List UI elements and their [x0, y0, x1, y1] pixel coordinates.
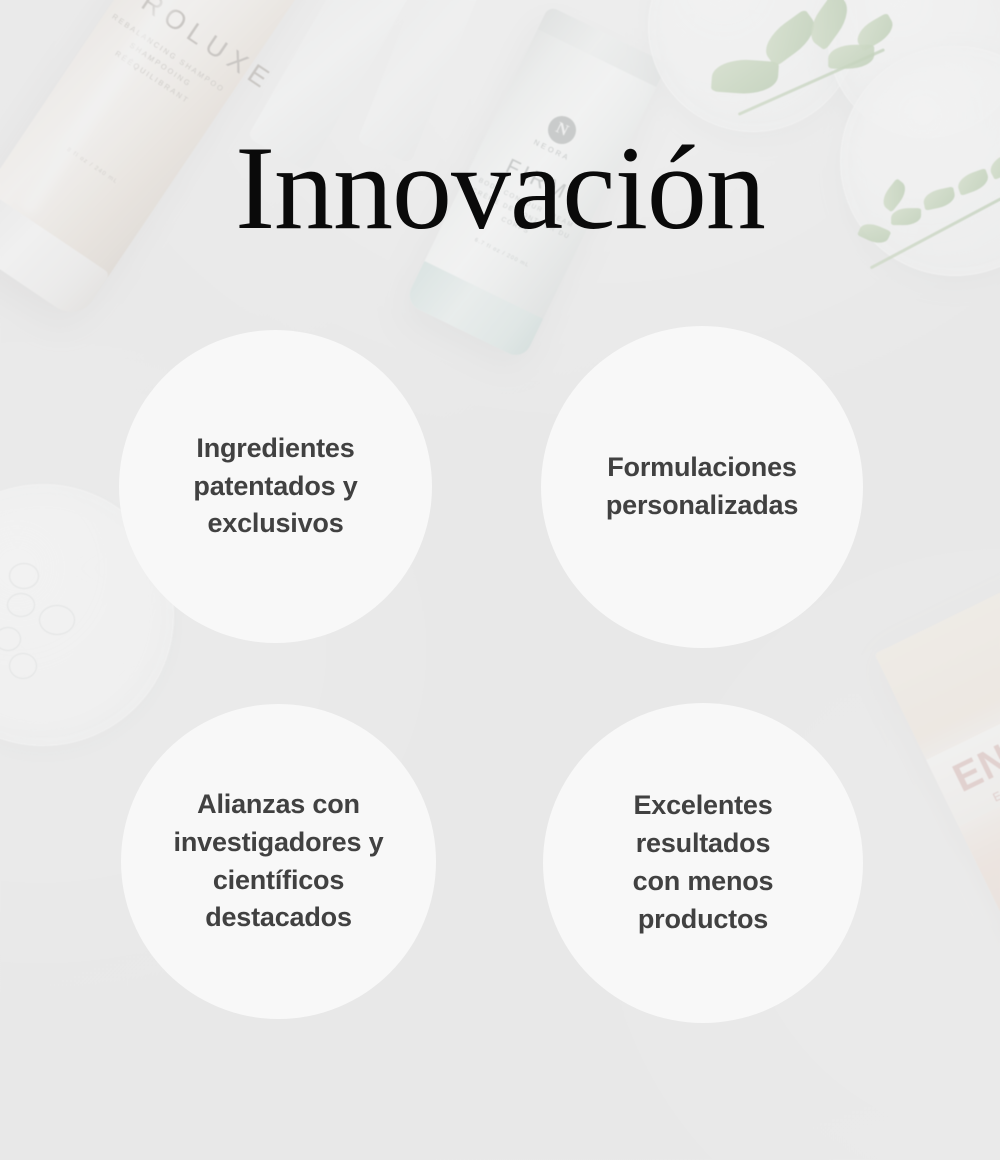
- feature-label: Excelentes resultados con menos producto…: [569, 787, 837, 938]
- feature-circles: Ingredientes patentados y exclusivos For…: [0, 0, 1000, 1160]
- feature-circle-alianzas[interactable]: Alianzas con investigadores y científico…: [121, 704, 436, 1019]
- feature-circle-formulaciones[interactable]: Formulaciones personalizadas: [541, 326, 863, 648]
- poster-content: Innovación Ingredientes patentados y exc…: [0, 0, 1000, 1160]
- feature-circle-ingredientes[interactable]: Ingredientes patentados y exclusivos: [119, 330, 432, 643]
- poster-canvas: N NEORA PROLUXE REBALANCING SHAMPOO SHAM…: [0, 0, 1000, 1160]
- feature-label: Ingredientes patentados y exclusivos: [145, 430, 406, 543]
- feature-circle-resultados[interactable]: Excelentes resultados con menos producto…: [543, 703, 863, 1023]
- feature-label: Formulaciones personalizadas: [567, 449, 837, 525]
- feature-label: Alianzas con investigadores y científico…: [147, 786, 410, 937]
